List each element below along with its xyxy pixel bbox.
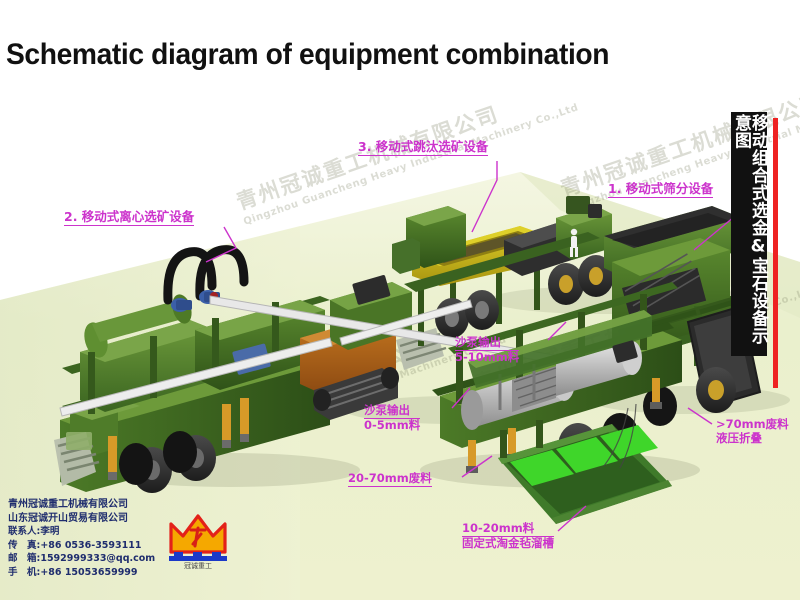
callout-text: 20-70mm废料 bbox=[348, 472, 432, 487]
vertical-banner: 移动组合式选金&宝石设备示意图 bbox=[731, 112, 767, 356]
callout-text-line1: >70mm废料 bbox=[716, 418, 789, 432]
company-name-2: 山东冠诚开山贸易有限公司 bbox=[8, 512, 166, 526]
callout-text-line1: 10-20mm料 bbox=[462, 522, 554, 537]
callout-text-line1: 沙泵输出 bbox=[364, 404, 420, 419]
callout-text-line2: 液压折叠 bbox=[716, 432, 789, 446]
vertical-banner-text: 移动组合式选金&宝石设备示意图 bbox=[732, 114, 766, 354]
callout-sluice-10-20[interactable]: 10-20mm料 固定式淘金毡溜槽 bbox=[462, 522, 554, 550]
sluice-box-gold-mat bbox=[498, 420, 672, 524]
contact-person-row: 联系人:李明 bbox=[8, 525, 166, 539]
company-name-1: 青州冠诚重工机械有限公司 bbox=[8, 498, 166, 512]
callout-waste-20-70[interactable]: 20-70mm废料 bbox=[348, 472, 432, 487]
fax-row: 传 真:+86 0536-3593111 bbox=[8, 539, 166, 553]
contact-person-label: 联系人 bbox=[8, 525, 37, 539]
callout-text: 3. 移动式跳汰选矿设备 bbox=[358, 140, 488, 156]
fax-value: +86 0536-3593111 bbox=[40, 539, 141, 553]
email-value: 1592999333@qq.com bbox=[40, 552, 155, 566]
callout-text-line2: 5-10mm料 bbox=[455, 351, 519, 365]
logo-caption: 冠诚重工 bbox=[184, 561, 212, 570]
company-info-card: 青州冠诚重工机械有限公司 山东冠诚开山贸易有限公司 联系人:李明 传 真:+86… bbox=[8, 498, 166, 580]
callout-equip-2-centrifugal[interactable]: 2. 移动式离心选矿设备 bbox=[64, 210, 194, 226]
mobile-label: 手 机 bbox=[8, 566, 37, 580]
fax-label: 传 真 bbox=[8, 539, 37, 553]
callout-equip-3-jig[interactable]: 3. 移动式跳汰选矿设备 bbox=[358, 140, 488, 156]
callout-sand-pump-5-10[interactable]: 沙泵输出 5-10mm料 bbox=[455, 336, 519, 364]
schematic-canvas: 青州冠诚重工机械有限公司 Qingzhou Guancheng Heavy In… bbox=[0, 0, 800, 600]
page-title: Schematic diagram of equipment combinati… bbox=[6, 38, 609, 72]
callout-text: 2. 移动式离心选矿设备 bbox=[64, 210, 194, 226]
email-row[interactable]: 邮 箱:1592999333@qq.com bbox=[8, 552, 166, 566]
contact-person-value: 李明 bbox=[40, 525, 59, 539]
mobile-value: +86 15053659999 bbox=[40, 566, 137, 580]
callout-text-line2: 0-5mm料 bbox=[364, 419, 420, 433]
red-accent-bar bbox=[773, 118, 778, 388]
email-label: 邮 箱 bbox=[8, 552, 37, 566]
callout-sand-pump-0-5[interactable]: 沙泵输出 0-5mm料 bbox=[364, 404, 420, 432]
company-logo: 冠诚重工 bbox=[165, 508, 231, 570]
callout-waste-over-70[interactable]: >70mm废料 液压折叠 bbox=[716, 418, 789, 445]
callout-text-line2: 固定式淘金毡溜槽 bbox=[462, 537, 554, 551]
callout-text-line1: 沙泵输出 bbox=[455, 336, 519, 351]
callout-equip-1-screening[interactable]: 1. 移动式筛分设备 bbox=[608, 182, 713, 198]
mobile-row: 手 机:+86 15053659999 bbox=[8, 566, 166, 580]
callout-text: 1. 移动式筛分设备 bbox=[608, 182, 713, 198]
